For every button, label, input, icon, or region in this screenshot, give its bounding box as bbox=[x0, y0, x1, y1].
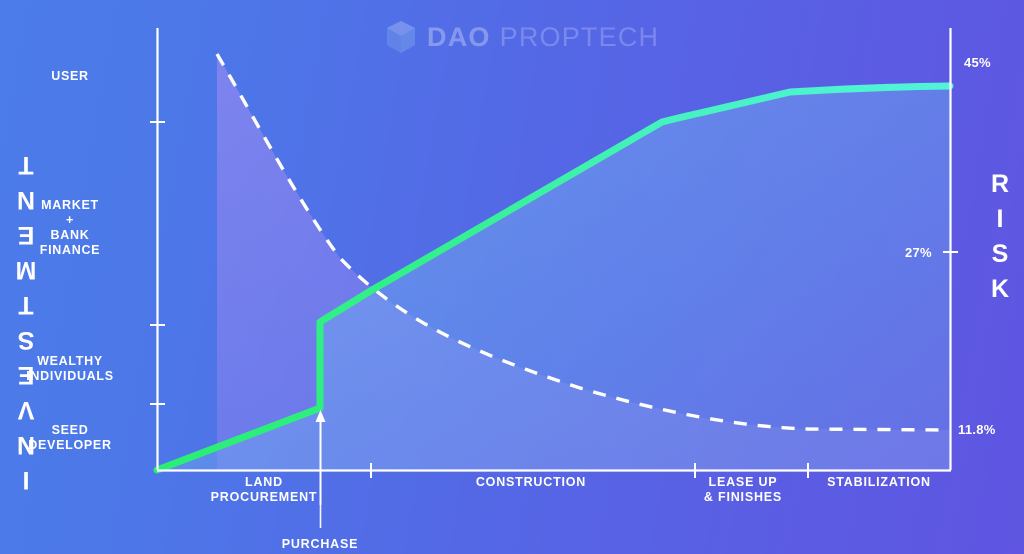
chart-svg bbox=[0, 0, 1024, 554]
y-axis-label-market-bank-finance: MARKET + BANK FINANCE bbox=[0, 198, 145, 258]
y2-axis-label-45: 45% bbox=[964, 55, 991, 70]
x-axis-label-land-procurement: LAND PROCUREMENT bbox=[164, 475, 364, 505]
y-axis-label-user: USER bbox=[0, 69, 145, 84]
y2-axis-title: RISK bbox=[987, 170, 1012, 310]
x-axis-label-stabilization: STABILIZATION bbox=[789, 475, 969, 490]
y2-axis-label-27: 27% bbox=[905, 245, 932, 260]
y-axis-label-seed-developer: SEED DEVELOPER bbox=[0, 423, 145, 453]
x-axis-label-construction: CONSTRUCTION bbox=[431, 475, 631, 490]
y2-axis-label-11-8: 11.8% bbox=[958, 422, 996, 437]
y-axis-label-wealthy-individuals: WEALTHY INDIVIDUALS bbox=[0, 354, 145, 384]
chart-canvas: DAO PROPTECH INVESTMENT RISK USER MARKET… bbox=[0, 0, 1024, 554]
purchase-marker-label: PURCHASE bbox=[246, 537, 394, 551]
